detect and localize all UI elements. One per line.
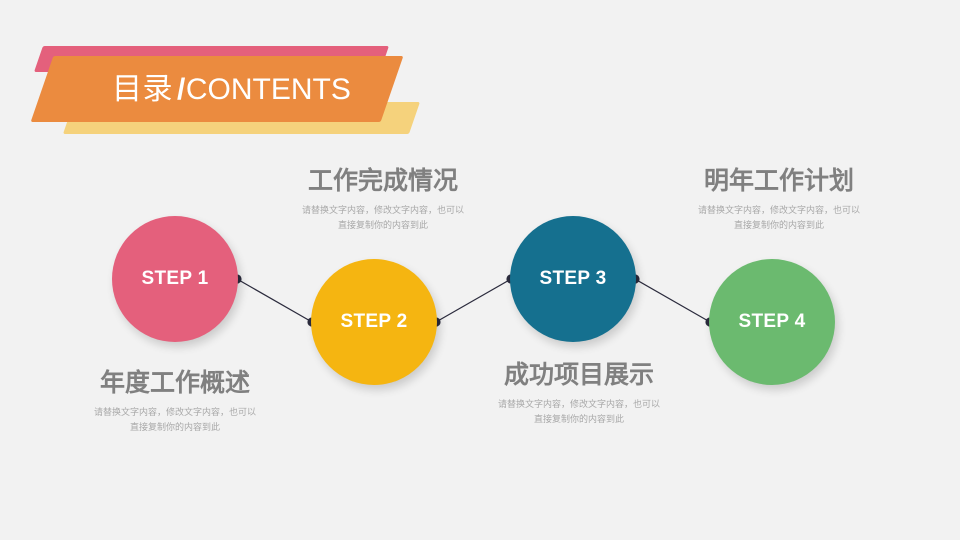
text-block-heading-4: 明年工作计划: [664, 166, 894, 196]
text-block-body-line-4b: 直接复制你的内容到此: [664, 218, 894, 233]
step-circle-1[interactable]: STEP 1: [112, 216, 238, 342]
connector-line-3: [635, 279, 710, 322]
text-block-body-line-1a: 请替换文字内容，修改文字内容，也可以: [60, 405, 290, 420]
text-block-body-line-2b: 直接复制你的内容到此: [268, 218, 498, 233]
slide-canvas: 目录/CONTENTS STEP 1 STEP 2 STEP 3 STEP 4 …: [0, 0, 960, 540]
text-block-heading-1: 年度工作概述: [60, 368, 290, 398]
connector-line-2: [436, 279, 511, 322]
step-label-4: STEP 4: [739, 311, 806, 333]
text-block-body-2: 请替换文字内容，修改文字内容，也可以 直接复制你的内容到此: [268, 203, 498, 233]
step-label-2: STEP 2: [341, 311, 408, 333]
text-block-heading-2: 工作完成情况: [268, 166, 498, 196]
text-block-step-4: 明年工作计划 请替换文字内容，修改文字内容，也可以 直接复制你的内容到此: [664, 166, 894, 233]
text-block-heading-3: 成功项目展示: [464, 360, 694, 390]
connector-line-1: [237, 279, 312, 322]
text-block-body-line-4a: 请替换文字内容，修改文字内容，也可以: [664, 203, 894, 218]
text-block-body-line-2a: 请替换文字内容，修改文字内容，也可以: [268, 203, 498, 218]
banner-title: 目录/CONTENTS: [112, 66, 412, 114]
text-block-body-3: 请替换文字内容，修改文字内容，也可以 直接复制你的内容到此: [464, 397, 694, 427]
step-circle-2[interactable]: STEP 2: [311, 259, 437, 385]
banner-title-en: CONTENTS: [186, 73, 351, 106]
step-label-1: STEP 1: [142, 268, 209, 290]
text-block-body-line-3a: 请替换文字内容，修改文字内容，也可以: [464, 397, 694, 412]
text-block-step-3: 成功项目展示 请替换文字内容，修改文字内容，也可以 直接复制你的内容到此: [464, 360, 694, 427]
banner-title-cn: 目录: [112, 73, 173, 106]
step-circle-4[interactable]: STEP 4: [709, 259, 835, 385]
step-label-3: STEP 3: [540, 268, 607, 290]
text-block-body-4: 请替换文字内容，修改文字内容，也可以 直接复制你的内容到此: [664, 203, 894, 233]
text-block-step-2: 工作完成情况 请替换文字内容，修改文字内容，也可以 直接复制你的内容到此: [268, 166, 498, 233]
text-block-step-1: 年度工作概述 请替换文字内容，修改文字内容，也可以 直接复制你的内容到此: [60, 368, 290, 435]
step-circle-3[interactable]: STEP 3: [510, 216, 636, 342]
text-block-body-line-1b: 直接复制你的内容到此: [60, 420, 290, 435]
text-block-body-line-3b: 直接复制你的内容到此: [464, 412, 694, 427]
banner-title-slash: /: [177, 73, 186, 106]
text-block-body-1: 请替换文字内容，修改文字内容，也可以 直接复制你的内容到此: [60, 405, 290, 435]
title-banner: 目录/CONTENTS: [30, 44, 420, 144]
